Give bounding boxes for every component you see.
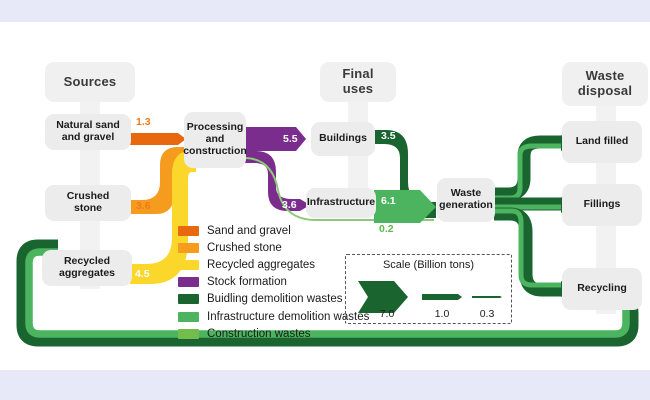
- column-header-sources: Sources: [45, 62, 135, 102]
- diagram-canvas: Sources Final uses Waste disposal Natura…: [0, 22, 650, 370]
- scale-title: Scale (Billion tons): [346, 259, 511, 271]
- node-recycling-label: Recycling: [577, 283, 627, 295]
- legend-item[interactable]: Infrastructure demolition wastes: [178, 308, 369, 325]
- legend: Sand and gravelCrushed stoneRecycled agg…: [178, 222, 369, 342]
- node-buildings-label: Buildings: [319, 133, 367, 145]
- node-crushed-stone-line2: stone: [74, 203, 102, 215]
- column-header-waste-disposal-line1: Waste: [586, 69, 625, 84]
- flow-natural-sand-to-processing: [130, 133, 186, 145]
- column-header-final-uses: Final uses: [320, 62, 396, 102]
- legend-label: Buidling demolition wastes: [207, 293, 343, 305]
- node-land-filled-label: Land filled: [576, 136, 629, 148]
- scale-tick-7: 7.0: [364, 308, 410, 320]
- column-header-final-uses-line2: uses: [343, 82, 373, 97]
- legend-label: Stock formation: [207, 276, 287, 288]
- legend-swatch-icon: [178, 277, 199, 287]
- node-infrastructure-label: Infrastructure: [307, 197, 375, 209]
- legend-item[interactable]: Construction wastes: [178, 325, 369, 342]
- legend-swatch-icon: [178, 329, 199, 339]
- value-buildings-to-waste: 3.5: [381, 130, 396, 142]
- legend-label: Crushed stone: [207, 242, 282, 254]
- value-infrastructure-to-waste: 6.1: [381, 195, 396, 207]
- scale-legend: Scale (Billion tons) 7.0 1.0 0.3: [345, 254, 512, 324]
- node-processing-line3: construction: [183, 146, 247, 158]
- legend-swatch-icon: [178, 294, 199, 304]
- node-processing-and-construction[interactable]: Processing and construction: [184, 112, 246, 168]
- value-construction-wastes: 0.2: [379, 223, 394, 235]
- node-land-filled[interactable]: Land filled: [562, 121, 642, 163]
- legend-swatch-icon: [178, 226, 199, 236]
- legend-label: Construction wastes: [207, 328, 311, 340]
- node-recycled-aggregates[interactable]: Recycled aggregates: [42, 250, 132, 286]
- legend-swatch-icon: [178, 243, 199, 253]
- node-fillings[interactable]: Fillings: [562, 184, 642, 226]
- scale-shape-1: [422, 294, 462, 300]
- legend-label: Recycled aggregates: [207, 259, 315, 271]
- value-processing-to-infrastructure: 3.6: [282, 199, 297, 211]
- scale-tick-1: 1.0: [420, 308, 464, 320]
- legend-item[interactable]: Stock formation: [178, 274, 369, 291]
- node-waste-generation[interactable]: Waste generation: [437, 178, 495, 222]
- node-fillings-label: Fillings: [584, 199, 621, 211]
- legend-item[interactable]: Sand and gravel: [178, 222, 369, 239]
- value-crushed-stone-to-processing: 3.6: [136, 200, 151, 212]
- node-recycled-aggregates-line2: aggregates: [59, 268, 115, 280]
- legend-item[interactable]: Recycled aggregates: [178, 256, 369, 273]
- column-header-waste-disposal-line2: disposal: [578, 84, 632, 99]
- node-waste-generation-line2: generation: [439, 200, 493, 212]
- node-buildings[interactable]: Buildings: [311, 122, 375, 156]
- value-natural-sand-to-processing: 1.3: [136, 116, 151, 128]
- scale-tick-03: 0.3: [466, 308, 508, 320]
- column-header-final-uses-line1: Final: [342, 67, 373, 82]
- node-recycling[interactable]: Recycling: [562, 268, 642, 310]
- value-recycled-to-processing: 4.5: [135, 268, 150, 280]
- value-processing-to-buildings: 5.5: [283, 133, 298, 145]
- node-natural-sand-line2: and gravel: [62, 132, 115, 144]
- legend-item[interactable]: Crushed stone: [178, 239, 369, 256]
- node-crushed-stone[interactable]: Crushed stone: [45, 185, 131, 221]
- flow-waste-to-landfilled-dark: [494, 142, 566, 194]
- legend-swatch-icon: [178, 260, 199, 270]
- scale-shape-03: [472, 296, 502, 298]
- legend-swatch-icon: [178, 312, 199, 322]
- legend-label: Sand and gravel: [207, 225, 291, 237]
- node-natural-sand-and-gravel[interactable]: Natural sand and gravel: [45, 114, 131, 150]
- legend-item[interactable]: Buidling demolition wastes: [178, 291, 369, 308]
- column-header-waste-disposal: Waste disposal: [562, 62, 648, 106]
- screenshot-root: Sources Final uses Waste disposal Natura…: [0, 0, 650, 400]
- node-infrastructure[interactable]: Infrastructure: [306, 188, 376, 218]
- column-header-sources-label: Sources: [64, 75, 117, 90]
